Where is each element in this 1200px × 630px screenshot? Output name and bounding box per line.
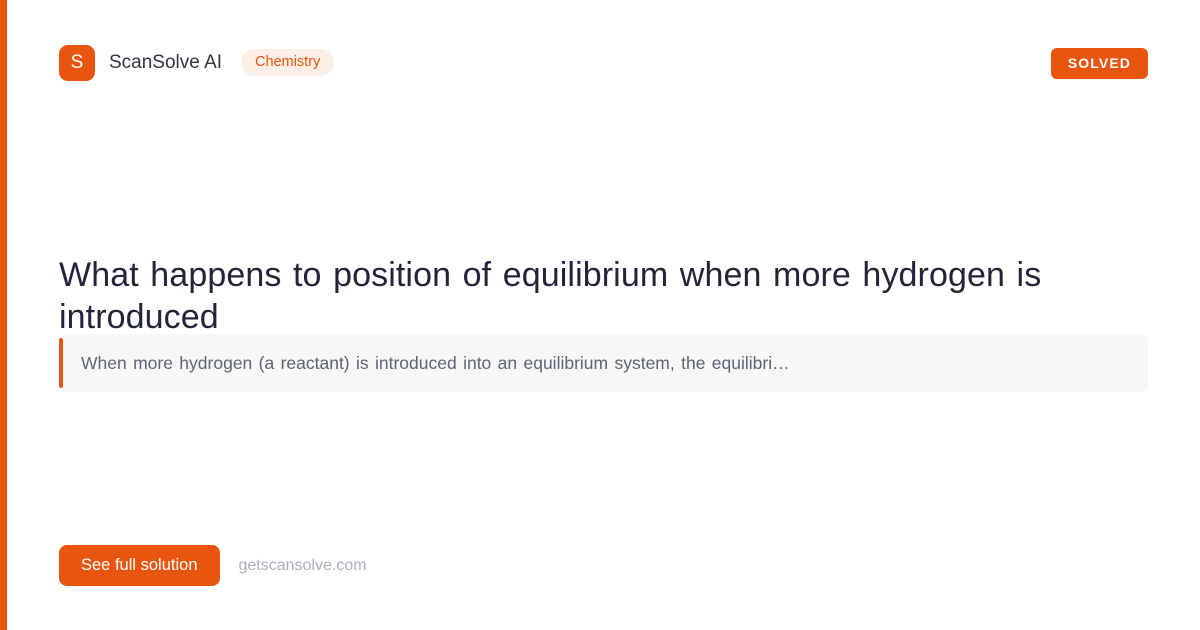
question-title: What happens to position of equilibrium …: [59, 254, 1049, 338]
card-header: S ScanSolve AI Chemistry SOLVED: [59, 44, 1148, 81]
see-full-solution-button[interactable]: See full solution: [59, 545, 220, 586]
answer-accent-bar: [59, 338, 63, 388]
share-card: S ScanSolve AI Chemistry SOLVED What hap…: [0, 0, 1200, 630]
brand-group[interactable]: S ScanSolve AI Chemistry: [59, 44, 334, 81]
subject-badge-chemistry: Chemistry: [241, 49, 334, 77]
answer-preview-block: When more hydrogen (a reactant) is intro…: [59, 334, 1148, 392]
brand-name: ScanSolve AI: [109, 52, 222, 74]
card-content: S ScanSolve AI Chemistry SOLVED What hap…: [59, 0, 1148, 630]
left-accent-stripe: [0, 0, 7, 630]
card-footer: See full solution getscansolve.com: [59, 545, 367, 586]
logo-letter: S: [71, 52, 84, 74]
status-badge-solved: SOLVED: [1051, 48, 1148, 79]
scansolve-logo-icon: S: [59, 45, 95, 81]
answer-preview-text: When more hydrogen (a reactant) is intro…: [59, 351, 806, 375]
site-url-link[interactable]: getscansolve.com: [239, 557, 367, 575]
